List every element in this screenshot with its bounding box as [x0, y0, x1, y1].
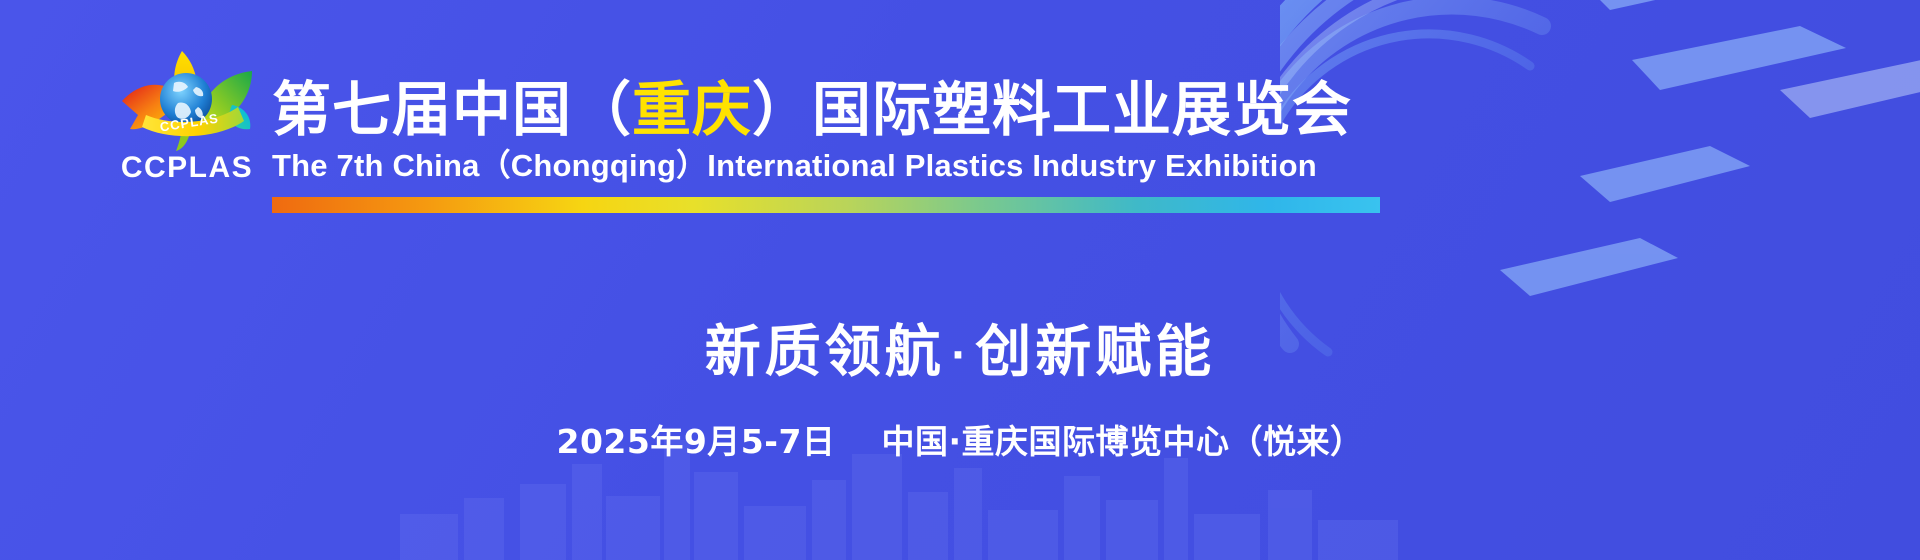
ccplas-logo: CCPLAS CCPLAS	[112, 45, 262, 205]
event-date: 2025年9月5-7日	[557, 422, 836, 461]
slogan-separator: ·	[945, 333, 975, 377]
title-chinese-highlight: 重庆	[632, 75, 752, 144]
title-chinese-part2: ）国际塑料工业展览会	[752, 75, 1352, 144]
slogan-left: 新质领航	[705, 320, 945, 385]
title-chinese-part1: 第七届中国（	[272, 75, 632, 144]
title-chinese: 第七届中国（重庆）国际塑料工业展览会	[272, 78, 1392, 142]
slogan-right: 创新赋能	[975, 320, 1215, 385]
gradient-rule	[272, 197, 1380, 213]
logo-wordmark: CCPLAS	[112, 153, 262, 183]
title-english: The 7th China（Chongqing）International Pl…	[272, 148, 1392, 184]
date-venue-line: 2025年9月5-7日中国·重庆国际博览中心（悦来）	[0, 422, 1920, 462]
exhibition-banner: CCPLAS CCPLAS 第七届中国（重庆）国际塑料工业展览会 The 7th…	[0, 0, 1920, 560]
event-venue: 中国·重庆国际博览中心（悦来）	[881, 422, 1363, 461]
slogan: 新质领航·创新赋能	[0, 322, 1920, 384]
headline-block: 第七届中国（重庆）国际塑料工业展览会 The 7th China（Chongqi…	[272, 78, 1392, 213]
ccplas-leaf-globe-icon: CCPLAS	[112, 45, 262, 157]
